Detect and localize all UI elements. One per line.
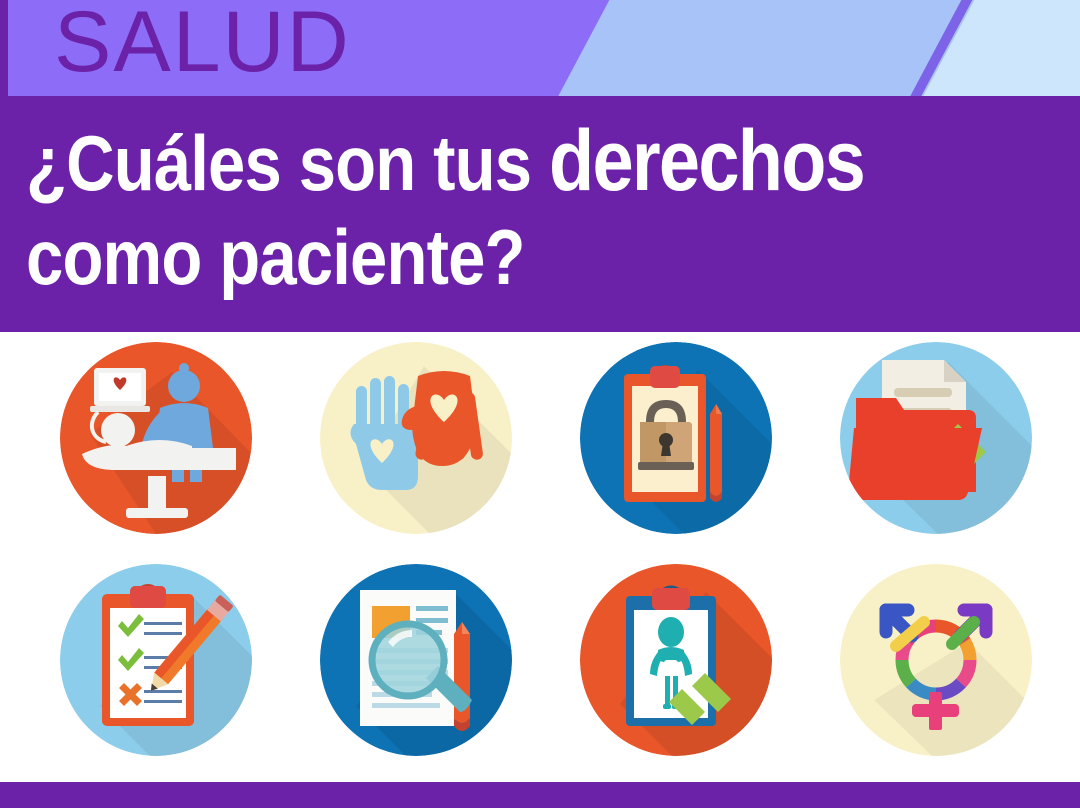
icon-cell-patient-record[interactable] xyxy=(580,564,772,756)
document-magnifier-icon xyxy=(320,564,512,756)
health-rights-poster: SALUD ¿Cuáles son tus derechoscomo pacie… xyxy=(0,0,1080,808)
icon-grid xyxy=(0,332,1080,782)
icon-cell-patient-exam[interactable] xyxy=(60,342,252,534)
patient-exam-icon xyxy=(60,342,252,534)
icon-cell-checklist[interactable] xyxy=(60,564,252,756)
footer-accent-bar xyxy=(0,782,1080,808)
folder-document-check-icon xyxy=(840,342,1032,534)
headline-lead-text: ¿Cuáles son tus xyxy=(26,119,549,207)
checklist-pencil-icon xyxy=(60,564,252,756)
kicker-left-edge-rule xyxy=(0,0,8,96)
headline-tail-text: como paciente? xyxy=(26,213,525,301)
page-title: ¿Cuáles son tus derechoscomo paciente? xyxy=(26,114,920,304)
gender-identity-icon xyxy=(840,564,1032,756)
caring-hands-hearts-icon xyxy=(320,342,512,534)
icon-cell-caring-hands[interactable] xyxy=(320,342,512,534)
headline-band: ¿Cuáles son tus derechoscomo paciente? xyxy=(0,96,1080,332)
icon-cell-document-review[interactable] xyxy=(320,564,512,756)
icon-cell-gender-identity[interactable] xyxy=(840,564,1032,756)
icon-cell-folder-record[interactable] xyxy=(840,342,1032,534)
clipboard-padlock-icon xyxy=(580,342,772,534)
icon-cell-clipboard-padlock[interactable] xyxy=(580,342,772,534)
category-kicker-salud: SALUD xyxy=(54,0,351,90)
headline-emphasis-derechos: derechos xyxy=(549,113,864,209)
patient-record-approved-icon xyxy=(580,564,772,756)
